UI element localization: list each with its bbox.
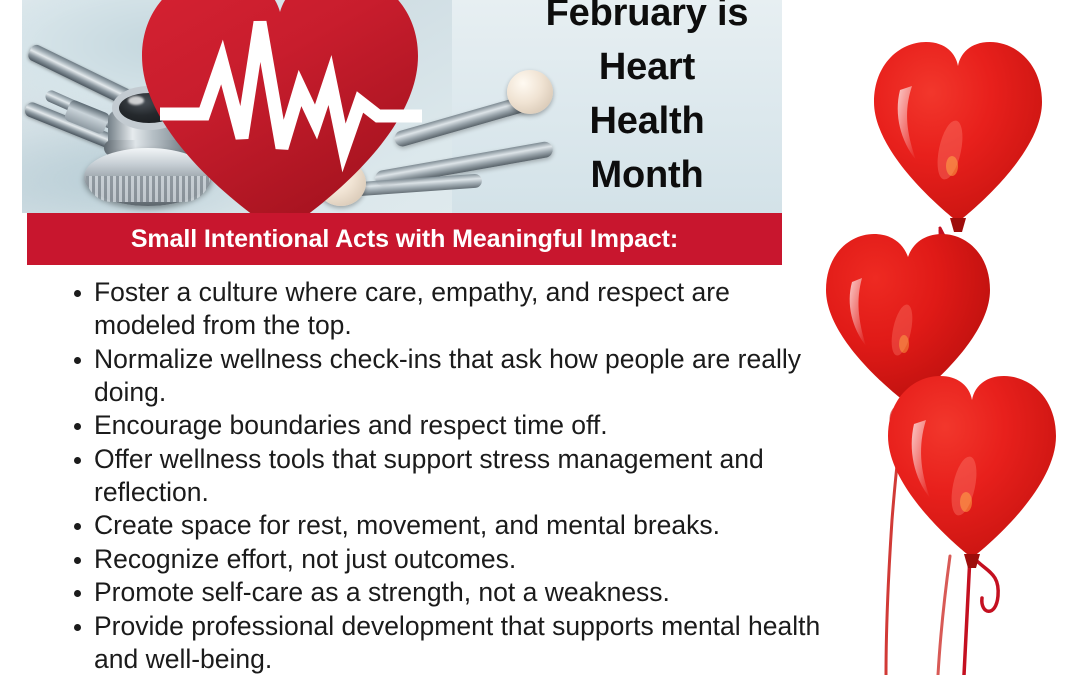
headline-line-4: Month xyxy=(522,148,772,202)
list-item: Promote self-care as a strength, not a w… xyxy=(74,576,834,609)
headline-line-1: February is xyxy=(522,0,772,40)
banner-title: Small Intentional Acts with Meaningful I… xyxy=(131,225,678,254)
paper-heart-with-ekg-icon xyxy=(130,0,430,213)
heart-balloon-bottom-icon xyxy=(888,376,1056,568)
list-item: Provide professional development that su… xyxy=(74,610,834,676)
list-item: Encourage boundaries and respect time of… xyxy=(74,409,834,442)
list-item: Normalize wellness check-ins that ask ho… xyxy=(74,343,834,409)
list-item: Offer wellness tools that support stress… xyxy=(74,443,834,509)
list-item: Recognize effort, not just outcomes. xyxy=(74,543,834,576)
section-banner: Small Intentional Acts with Meaningful I… xyxy=(27,213,782,265)
heart-balloons-image xyxy=(800,0,1080,675)
heart-balloon-middle-icon xyxy=(826,234,990,412)
tips-list: Foster a culture where care, empathy, an… xyxy=(30,276,834,676)
list-item: Foster a culture where care, empathy, an… xyxy=(74,276,834,342)
list-item: Create space for rest, movement, and men… xyxy=(74,509,834,542)
hero-photo: February is Heart Health Month xyxy=(22,0,782,213)
flyer-panel: February is Heart Health Month Small Int… xyxy=(22,0,782,675)
hero-headline: February is Heart Health Month xyxy=(522,0,772,202)
headline-line-3: Health xyxy=(522,94,772,148)
headline-line-2: Heart xyxy=(522,40,772,94)
heart-balloon-top-icon xyxy=(874,42,1042,232)
